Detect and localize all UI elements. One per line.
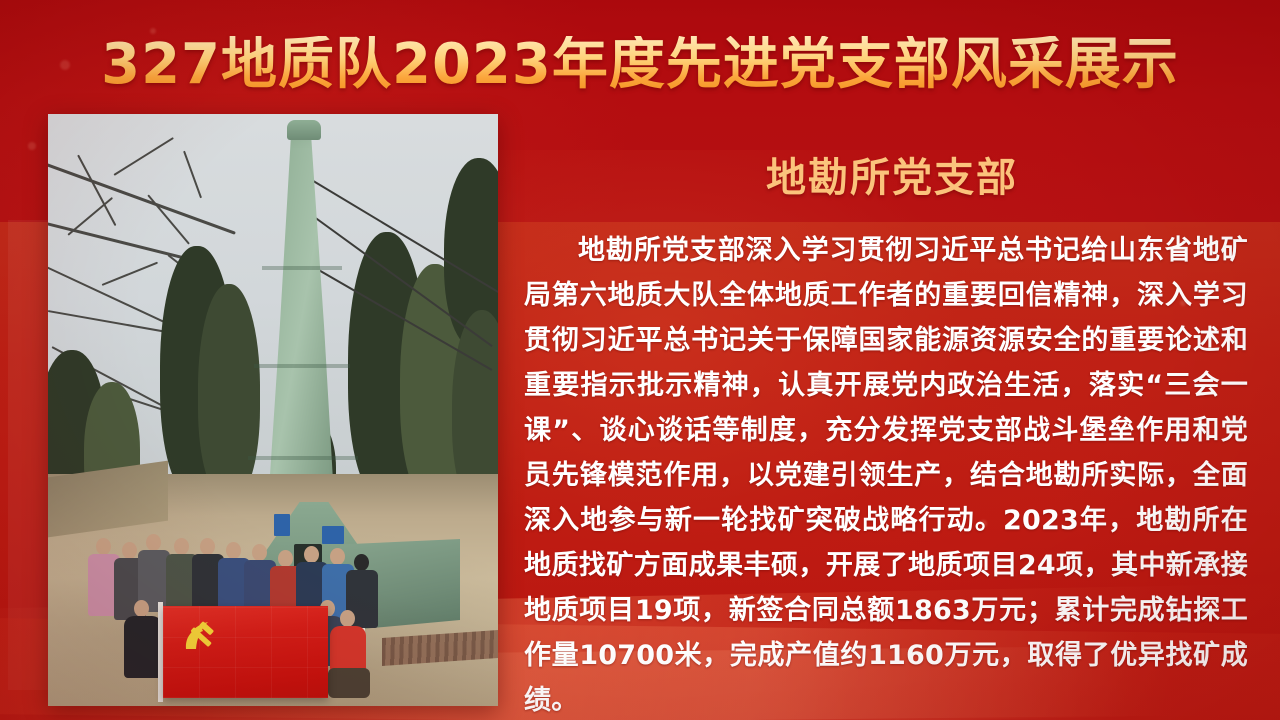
- field-photo: [48, 114, 498, 706]
- background-spark: [28, 142, 36, 150]
- hammer-and-sickle-icon: [181, 618, 227, 656]
- photo-pine-tree: [198, 284, 260, 499]
- photo-derrick-band: [254, 364, 350, 368]
- poster-canvas: 327地质队2023年度先进党支部风采展示 地勘所党支部 地勘所党支部深入学习贯…: [0, 0, 1280, 720]
- photo-cpc-party-flag: [163, 606, 328, 698]
- page-title: 327地质队2023年度先进党支部风采展示: [0, 36, 1280, 95]
- photo-blue-sign: [274, 514, 290, 536]
- photo-derrick-cap: [287, 120, 321, 140]
- page-subtitle: 地勘所党支部: [512, 145, 1272, 203]
- article-body: 地勘所党支部深入学习贯彻习近平总书记给山东省地矿局第六地质大队全体地质工作者的重…: [524, 228, 1248, 720]
- article-paragraph: 地勘所党支部深入学习贯彻习近平总书记给山东省地矿局第六地质大队全体地质工作者的重…: [524, 228, 1248, 720]
- photo-derrick-band: [248, 456, 358, 460]
- photo-blue-sign: [322, 526, 344, 544]
- photo-derrick-band: [262, 266, 342, 270]
